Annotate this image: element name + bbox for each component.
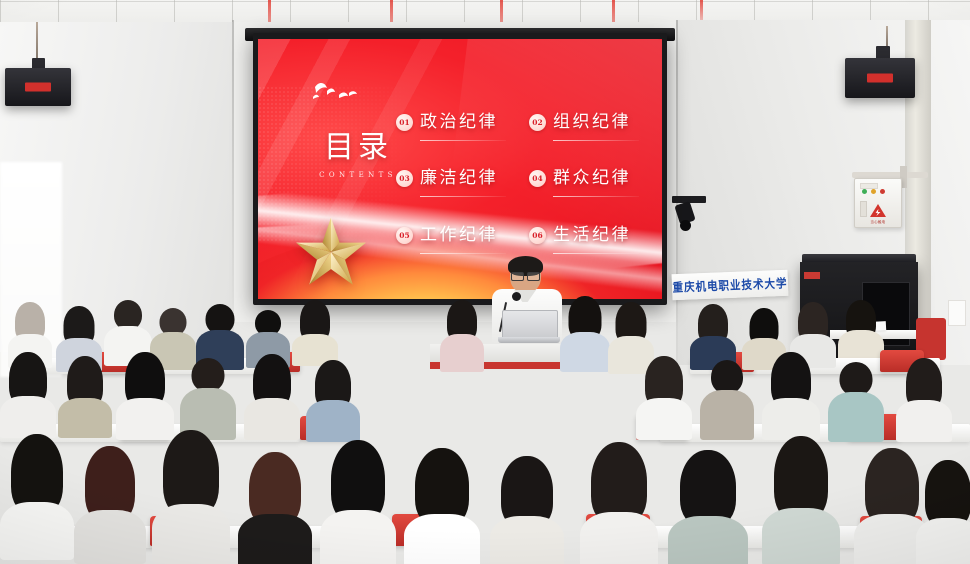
attendee (828, 362, 884, 440)
attendee-torso (404, 514, 480, 564)
slide-contents-grid: 01 政治纪律 02 组织纪律 03 廉洁纪律 04 群众纪律 (396, 94, 654, 264)
item-label: 工作纪律 (420, 227, 498, 244)
attendee (700, 360, 754, 438)
item-label: 政治纪律 (420, 114, 498, 131)
item-underline (553, 196, 639, 197)
attendee-torso (306, 400, 360, 442)
slide-item-04: 04 群众纪律 (529, 151, 654, 208)
item-underline (553, 253, 639, 254)
slide-item-05: 05 工作纪律 (396, 207, 521, 264)
attendee-torso (490, 516, 564, 564)
attendee-torso (58, 398, 112, 438)
attendee (762, 436, 840, 562)
attendee (490, 456, 564, 564)
item-number-badge: 04 (529, 170, 546, 187)
attendee (58, 356, 112, 436)
item-underline (420, 140, 506, 141)
attendee-torso (0, 396, 56, 438)
laptop-screen (502, 310, 558, 340)
attendee-torso (700, 390, 754, 440)
track-spotlight-icon (672, 196, 706, 236)
attendee-hair (680, 450, 736, 526)
side-attendee (838, 300, 884, 364)
attendee-torso (440, 334, 484, 372)
item-underline (420, 253, 506, 254)
attendee (320, 440, 396, 562)
attendee (896, 358, 952, 440)
wall-speaker-left (5, 68, 71, 106)
attendee-head (840, 362, 873, 396)
attendee (180, 358, 236, 438)
slide-item-03: 03 廉洁纪律 (396, 151, 521, 208)
attendee (636, 356, 692, 438)
electrical-panel: 当心触电 (854, 178, 902, 228)
attendee-torso (636, 398, 692, 440)
glasses-icon (511, 272, 540, 279)
attendee (690, 304, 736, 368)
attendee-torso (560, 332, 610, 372)
item-label: 群众纪律 (553, 170, 631, 187)
attendee-head (192, 358, 225, 392)
attendee-torso (916, 518, 970, 564)
item-label: 廉洁纪律 (420, 170, 498, 187)
item-number-badge: 02 (529, 114, 546, 131)
attendee-torso (238, 514, 312, 564)
panel-indicator-lights (862, 189, 885, 194)
university-banner: 重庆机电职业技术大学 (672, 270, 789, 300)
indicator-green-icon (862, 189, 867, 194)
high-voltage-warning-icon (870, 204, 886, 217)
attendee (404, 448, 480, 562)
laptop-base (498, 337, 560, 343)
attendee-torso (762, 398, 820, 440)
speaker-cable (886, 26, 888, 48)
attendee (0, 352, 56, 436)
attendee-torso (580, 512, 658, 564)
lecture-hall-photo: 当心触电 (0, 0, 970, 564)
item-number-badge: 01 (396, 114, 413, 131)
panel-switch-strip (860, 201, 867, 217)
slide-item-02: 02 组织纪律 (529, 94, 654, 151)
attendee (306, 360, 360, 438)
item-number-badge: 05 (396, 227, 413, 244)
item-underline (553, 140, 639, 141)
attendee (0, 434, 74, 554)
attendee (152, 430, 230, 558)
attendee-torso (244, 398, 300, 440)
attendee-torso (320, 510, 396, 564)
speaker-brand-label (25, 83, 51, 92)
item-label: 生活纪律 (553, 227, 631, 244)
slide-item-06: 06 生活纪律 (529, 207, 654, 264)
banner-text: 重庆机电职业技术大学 (672, 274, 788, 296)
attendee (244, 354, 300, 438)
attendee-torso (152, 504, 230, 564)
attendee-torso (0, 502, 74, 560)
attendee (238, 452, 312, 562)
gold-five-point-star-icon (292, 213, 370, 291)
attendee (116, 352, 174, 438)
dove-flock-icon (303, 77, 363, 107)
panel-warning-label: 当心触电 (855, 219, 901, 224)
wall-notice-sheet (948, 300, 966, 326)
attendee-torso (762, 508, 840, 564)
item-number-badge: 03 (396, 170, 413, 187)
attendee (916, 460, 970, 564)
wall-corner-seam (676, 20, 678, 366)
attendee (580, 442, 658, 564)
attendee (668, 450, 748, 564)
presenter-laptop (498, 310, 560, 346)
indicator-amber-icon (871, 189, 876, 194)
spotlight-lens (680, 220, 691, 231)
presentation-slide: 目录 CONTENTS 01 政治纪律 02 组织纪律 03 廉洁纪律 (258, 39, 662, 299)
presentation-screen-frame: 目录 CONTENTS 01 政治纪律 02 组织纪律 03 廉洁纪律 (253, 33, 667, 305)
item-underline (420, 196, 506, 197)
attendee-torso (74, 510, 146, 564)
rack-label (804, 272, 820, 279)
item-label: 组织纪律 (553, 114, 631, 131)
wall-speaker-right (845, 58, 915, 98)
item-number-badge: 06 (529, 227, 546, 244)
attendee (74, 446, 146, 558)
front-attendee (560, 296, 610, 370)
microphone-icon (512, 292, 521, 301)
attendee-head (711, 360, 743, 394)
speaker-brand-label (867, 74, 893, 83)
attendee-torso (668, 516, 748, 564)
attendee (762, 352, 820, 438)
slide-item-01: 01 政治纪律 (396, 94, 521, 151)
attendee-torso (896, 400, 952, 442)
indicator-red-icon (880, 189, 885, 194)
attendee-torso (828, 392, 884, 442)
front-attendee (440, 300, 484, 370)
